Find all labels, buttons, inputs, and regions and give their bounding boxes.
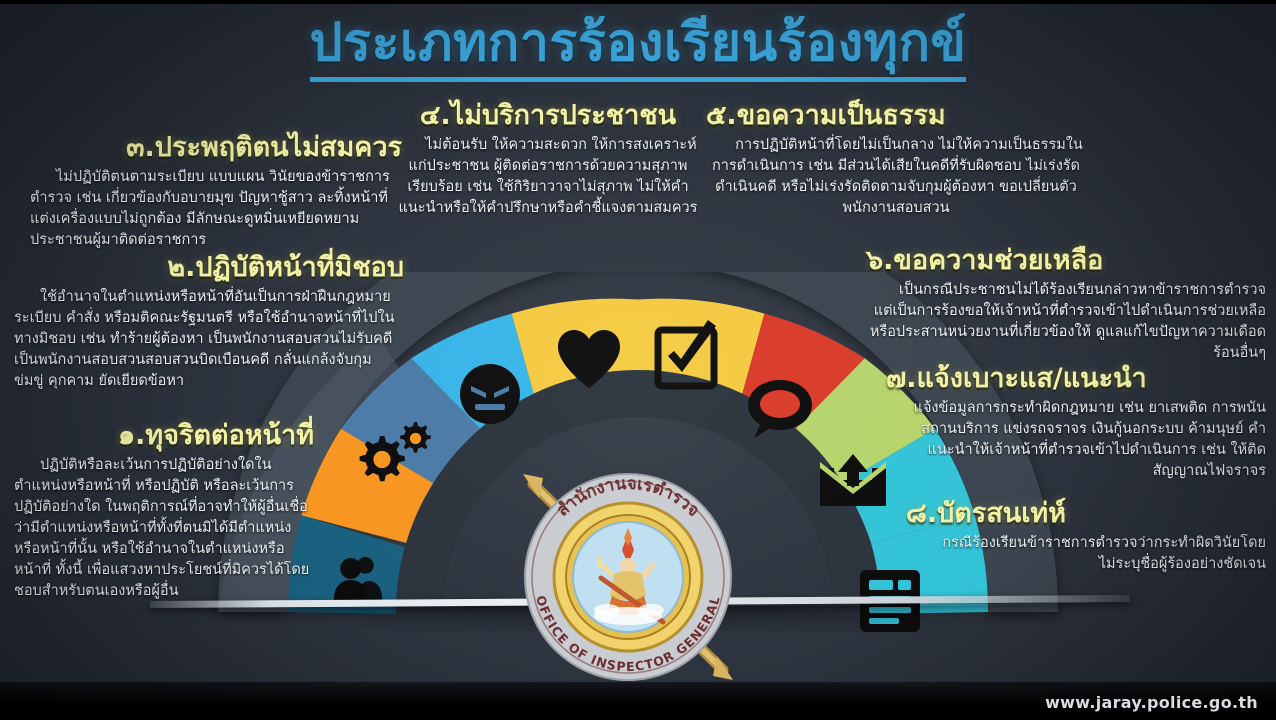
angry-face-icon <box>460 364 520 424</box>
category-block-1: ๑.ทุจริตต่อหน้าที่ ปฏิบัติหรือละเว้นการป… <box>14 420 314 602</box>
category-7-heading: ๗.แจ้งเบาะแส/แนะนำ <box>886 363 1266 394</box>
category-3-heading: ๓.ประพฤติตนไม่สมควร <box>30 132 402 163</box>
page-title: ประเภทการร้องเรียนร้องทุกข์ <box>310 16 967 82</box>
category-block-4: ๔.ไม่บริการประชาชน ไม่ต้อนรับ ให้ความสะด… <box>398 100 698 219</box>
category-block-8: ๘.บัตรสนเท่ห์ กรณีร้องเรียนข้าราชการตำรว… <box>906 498 1266 575</box>
category-6-heading: ๖.ขอความช่วยเหลือ <box>866 245 1266 276</box>
category-2-heading: ๒.ปฏิบัติหน้าที่มิชอบ <box>14 252 404 283</box>
inspector-general-emblem: สำนักงานจเรตำรวจ OFFICE OF INSPECTOR GEN… <box>509 458 747 696</box>
category-8-heading: ๘.บัตรสนเท่ห์ <box>906 498 1266 529</box>
category-3-body: ไม่ปฏิบัติตนตามระเบียบ แบบแผน วินัยของข้… <box>30 167 402 251</box>
category-7-body: แจ้งข้อมูลการกระทำผิดกฎหมาย เช่น ยาเสพติ… <box>886 398 1266 482</box>
page-title-wrap: ประเภทการร้องเรียนร้องทุกข์ <box>0 16 1276 82</box>
category-1-heading: ๑.ทุจริตต่อหน้าที่ <box>14 420 314 451</box>
category-block-2: ๒.ปฏิบัติหน้าที่มิชอบ ใช้อำนาจในตำแหน่งห… <box>14 252 404 392</box>
letterbox-top <box>0 0 1276 4</box>
infographic-page: ประเภทการร้องเรียนร้องทุกข์ <box>0 0 1276 720</box>
category-block-3: ๓.ประพฤติตนไม่สมควร ไม่ปฏิบัติตนตามระเบี… <box>30 132 402 251</box>
category-block-5: ๕.ขอความเป็นธรรม การปฏิบัติหน้าที่โดยไม่… <box>706 100 1086 219</box>
category-5-heading: ๕.ขอความเป็นธรรม <box>706 100 1086 131</box>
category-6-body: เป็นกรณีประชาชนไม่ได้ร้องเรียนกล่าวหาข้า… <box>866 280 1266 364</box>
category-4-body: ไม่ต้อนรับ ให้ความสะดวก ให้การสงเคราะห์แ… <box>398 135 698 219</box>
category-5-body: การปฏิบัติหน้าที่โดยไม่เป็นกลาง ไม่ให้คว… <box>706 135 1086 219</box>
footer-website-url: www.jaray.police.go.th <box>1045 693 1258 712</box>
category-4-heading: ๔.ไม่บริการประชาชน <box>398 100 698 131</box>
category-8-body: กรณีร้องเรียนข้าราชการตำรวจว่ากระทำผิดวิ… <box>906 533 1266 575</box>
category-1-body: ปฏิบัติหรือละเว้นการปฏิบัติอย่างใดใน ตำแ… <box>14 455 314 602</box>
category-block-6: ๖.ขอความช่วยเหลือ เป็นกรณีประชาชนไม่ได้ร… <box>866 245 1266 364</box>
category-block-7: ๗.แจ้งเบาะแส/แนะนำ แจ้งข้อมูลการกระทำผิด… <box>886 363 1266 482</box>
category-2-body: ใช้อำนาจในตำแหน่งหรือหน้าที่อันเป็นการฝ่… <box>14 287 404 392</box>
